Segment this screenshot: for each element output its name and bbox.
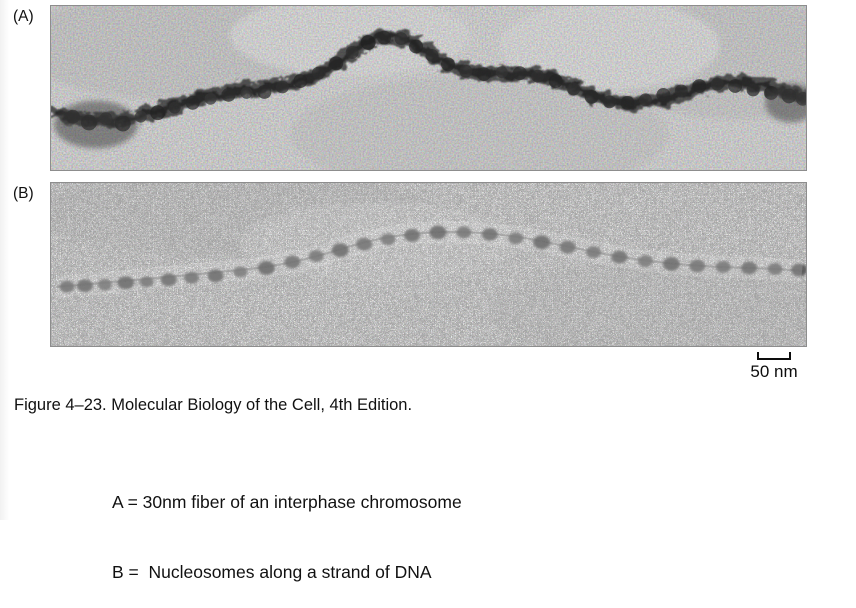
legend-line-a: A = 30nm fiber of an interphase chromoso… bbox=[112, 491, 462, 514]
panel-a-image bbox=[51, 6, 806, 170]
page-gutter-strip bbox=[0, 0, 9, 520]
panel-b-label: (B) bbox=[13, 186, 34, 202]
legend-line-b: B = Nucleosomes along a strand of DNA bbox=[112, 561, 462, 584]
scale-bar-label: 50 nm bbox=[742, 363, 806, 381]
panel-a-label: (A) bbox=[13, 9, 34, 25]
panel-b-image bbox=[51, 183, 806, 346]
legend-block: A = 30nm fiber of an interphase chromoso… bbox=[112, 444, 462, 608]
scale-bar-rule-icon bbox=[757, 352, 791, 360]
panel-a-micrograph bbox=[50, 5, 807, 171]
panel-b-micrograph bbox=[50, 182, 807, 347]
scale-bar: 50 nm bbox=[742, 352, 806, 386]
figure-caption: Figure 4–23. Molecular Biology of the Ce… bbox=[14, 396, 412, 415]
